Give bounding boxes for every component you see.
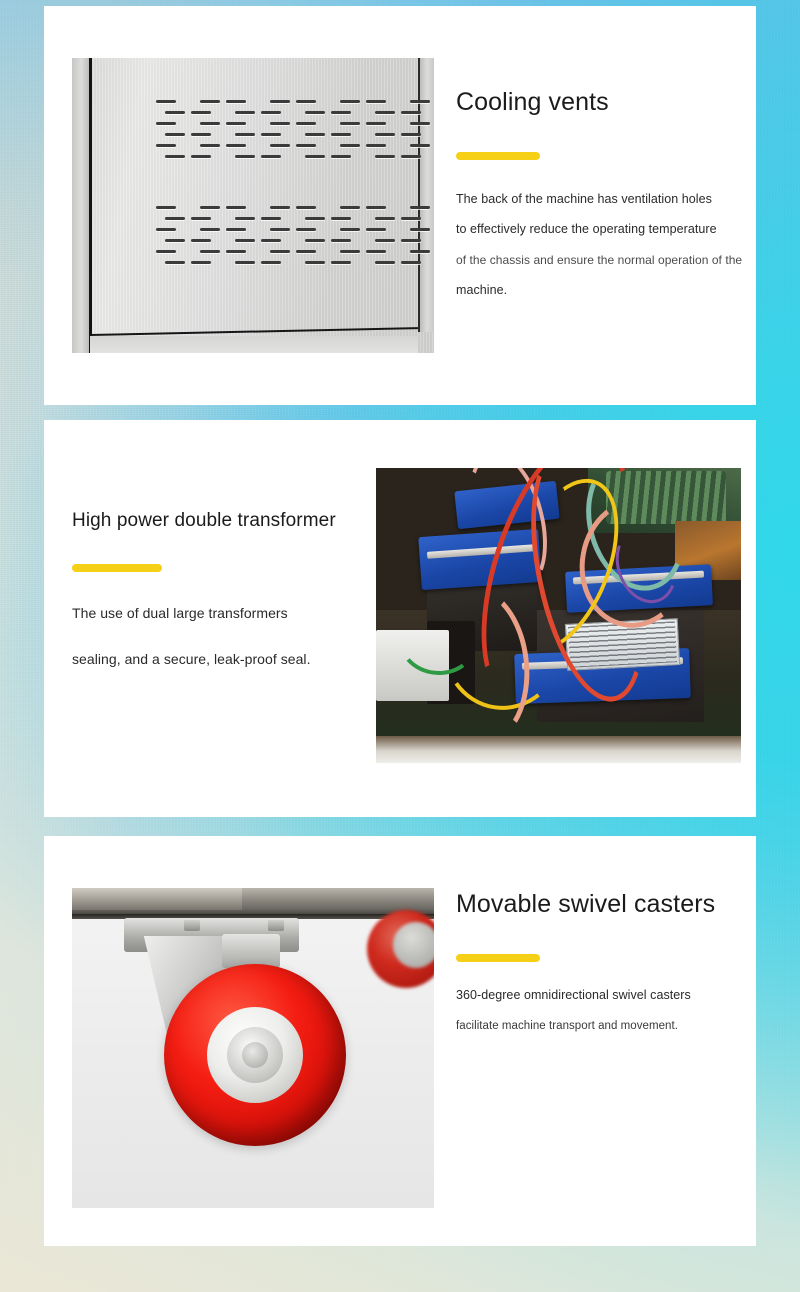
vent-slot [366, 206, 386, 209]
vent-slot [401, 239, 421, 242]
vent-slot [261, 133, 281, 136]
vent-slot [401, 133, 421, 136]
vent-slot [261, 217, 281, 220]
vent-slot [296, 122, 316, 125]
caster-swivel-yoke [222, 934, 280, 968]
body-line: of the chassis and ensure the normal ope… [456, 254, 744, 266]
vent-slot [165, 133, 185, 136]
vent-slot [410, 122, 430, 125]
vent-slot [165, 217, 185, 220]
vent-slot [340, 144, 360, 147]
feature-card-movable-swivel-casters: Movable swivel casters 360-degree omnidi… [44, 836, 756, 1246]
vent-slot [305, 217, 325, 220]
cooling-vents-text-column: Cooling vents The back of the machine ha… [456, 88, 744, 314]
vent-slot [331, 133, 351, 136]
body-line: facilitate machine transport and movemen… [456, 1021, 756, 1033]
section-heading: High power double transformer [72, 510, 392, 532]
vent-slot [261, 155, 281, 158]
vent-slot [200, 144, 220, 147]
enclosure-front-edge [376, 736, 741, 763]
vent-slot [366, 228, 386, 231]
vent-slot [366, 100, 386, 103]
body-line: sealing, and a secure, leak-proof seal. [72, 652, 392, 666]
vent-slot [156, 122, 176, 125]
vent-slot [331, 155, 351, 158]
vent-slot [235, 155, 255, 158]
vent-slot [235, 111, 255, 114]
vent-slot [235, 239, 255, 242]
vent-slot [401, 261, 421, 264]
vent-slot [156, 228, 176, 231]
vent-slot [226, 100, 246, 103]
vent-slot [165, 155, 185, 158]
vent-slot [331, 217, 351, 220]
vent-slot [200, 250, 220, 253]
vent-slot [226, 122, 246, 125]
vent-slot [200, 206, 220, 209]
dual-blue-transformers-with-wiring-harness-image [376, 468, 741, 763]
vent-slot [410, 144, 430, 147]
vent-slot [270, 144, 290, 147]
vent-slot [165, 239, 185, 242]
vent-slot [305, 111, 325, 114]
vent-slot [401, 111, 421, 114]
vent-slot [410, 228, 430, 231]
vent-slot [191, 217, 211, 220]
background-caster-hub [393, 922, 434, 968]
vent-slot [305, 155, 325, 158]
vent-slot [270, 122, 290, 125]
section-heading: Movable swivel casters [456, 890, 756, 919]
vent-slot [366, 250, 386, 253]
vent-slot [191, 239, 211, 242]
caster-axle-bolt [242, 1042, 268, 1068]
accent-bar [72, 564, 162, 572]
vent-slot [270, 100, 290, 103]
vent-slot [366, 122, 386, 125]
stainless-steel-back-panel-with-ventilation-slots-image [72, 58, 434, 353]
body-line: 360-degree omnidirectional swivel caster… [456, 989, 756, 1002]
vent-slot [270, 206, 290, 209]
vent-slot [331, 239, 351, 242]
vent-slot [156, 144, 176, 147]
vent-slot [156, 250, 176, 253]
vent-slot [305, 239, 325, 242]
vent-slot [296, 250, 316, 253]
panel-left-seam [89, 58, 92, 353]
vent-slot [191, 111, 211, 114]
feature-card-cooling-vents: Cooling vents The back of the machine ha… [44, 6, 756, 405]
vent-slot [375, 111, 395, 114]
ventilation-slot-array-top [156, 100, 366, 166]
swivel-casters-text-column: Movable swivel casters 360-degree omnidi… [456, 890, 756, 1051]
vent-slot [191, 155, 211, 158]
vent-slot [375, 261, 395, 264]
vent-slot [226, 144, 246, 147]
vent-slot [235, 133, 255, 136]
vent-slot [401, 217, 421, 220]
machine-frame-panel [72, 888, 242, 910]
vent-slot [270, 228, 290, 231]
vent-slot [410, 206, 430, 209]
vent-slot [235, 261, 255, 264]
vent-slot [156, 100, 176, 103]
vent-slot [410, 100, 430, 103]
panel-bottom-band [90, 336, 418, 353]
section-body: The back of the machine has ventilation … [456, 193, 744, 297]
vent-slot [331, 111, 351, 114]
accent-bar [456, 152, 540, 160]
body-line: to effectively reduce the operating temp… [456, 223, 744, 236]
vent-slot [200, 228, 220, 231]
vent-slot [366, 144, 386, 147]
panel-left-edge [72, 58, 89, 353]
vent-slot [340, 206, 360, 209]
vent-slot [226, 250, 246, 253]
vent-slot [226, 228, 246, 231]
section-heading: Cooling vents [456, 88, 744, 117]
body-line: The use of dual large transformers [72, 606, 392, 620]
vent-slot [296, 100, 316, 103]
vent-slot [305, 261, 325, 264]
vent-slot [340, 122, 360, 125]
vent-slot [226, 206, 246, 209]
body-line: The back of the machine has ventilation … [456, 193, 744, 206]
red-polyurethane-swivel-caster-wheel-image [72, 888, 434, 1208]
vent-slot [340, 250, 360, 253]
vent-slot [261, 261, 281, 264]
section-body: 360-degree omnidirectional swivel caster… [456, 989, 756, 1033]
vent-slot [156, 206, 176, 209]
vent-slot [200, 100, 220, 103]
vent-slot [375, 217, 395, 220]
vent-slot [296, 228, 316, 231]
vent-slot [191, 133, 211, 136]
vent-slot [305, 133, 325, 136]
vent-slot [261, 239, 281, 242]
mounting-bolt [268, 920, 284, 931]
vent-slot [296, 144, 316, 147]
vent-slot [261, 111, 281, 114]
vent-slot [340, 228, 360, 231]
vent-slot [296, 206, 316, 209]
vent-slot [270, 250, 290, 253]
vent-slot [165, 111, 185, 114]
vent-slot [235, 217, 255, 220]
vent-slot [401, 155, 421, 158]
section-body: The use of dual large transformers seali… [72, 606, 392, 666]
accent-bar [456, 954, 540, 962]
vent-slot [165, 261, 185, 264]
mounting-bolt [184, 920, 200, 931]
vent-slot [410, 250, 430, 253]
vent-slot [375, 155, 395, 158]
transformer-text-column: High power double transformer The use of… [72, 510, 392, 698]
body-line: machine. [456, 284, 744, 297]
vent-slot [375, 133, 395, 136]
vent-slot [375, 239, 395, 242]
vent-slot [331, 261, 351, 264]
vent-slot [340, 100, 360, 103]
ventilation-slot-array-bottom [156, 206, 366, 272]
vent-slot [191, 261, 211, 264]
feature-card-high-power-double-transformer: High power double transformer The use of… [44, 420, 756, 817]
vent-slot [200, 122, 220, 125]
